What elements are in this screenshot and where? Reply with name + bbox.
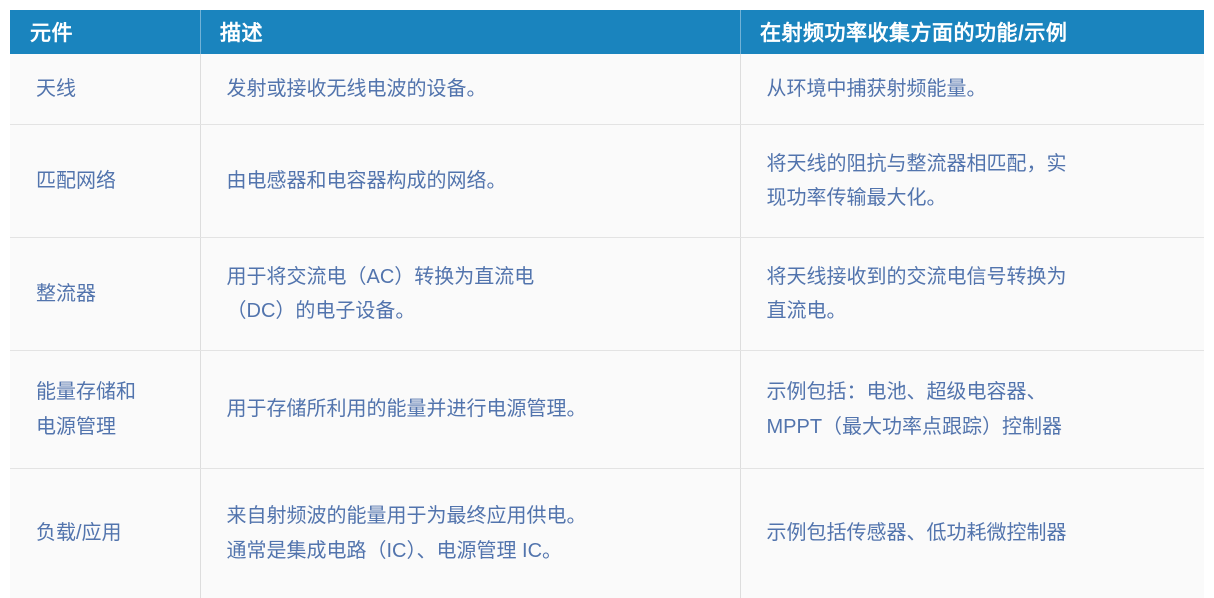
cell-text-line: 通常是集成电路（IC）、电源管理 IC。 xyxy=(227,534,726,568)
cell-text-line: 将天线接收到的交流电信号转换为 xyxy=(767,260,1191,294)
cell-text-line: 整流器 xyxy=(36,277,190,311)
cell-text-line: 由电感器和电容器构成的网络。 xyxy=(227,164,726,198)
table-header: 元件 描述 在射频功率收集方面的功能/示例 xyxy=(10,10,1204,54)
cell-text-line: 将天线的阻抗与整流器相匹配，实 xyxy=(767,147,1191,181)
cell-component: 能量存储和电源管理 xyxy=(10,351,200,469)
cell-text-line: 能量存储和 xyxy=(36,375,190,409)
cell-text-line: （DC）的电子设备。 xyxy=(227,294,726,328)
table-row: 匹配网络由电感器和电容器构成的网络。将天线的阻抗与整流器相匹配，实现功率传输最大… xyxy=(10,125,1204,238)
table-row: 能量存储和电源管理用于存储所利用的能量并进行电源管理。示例包括：电池、超级电容器… xyxy=(10,351,1204,469)
table-row: 整流器用于将交流电（AC）转换为直流电（DC）的电子设备。将天线接收到的交流电信… xyxy=(10,238,1204,351)
cell-text-line: 直流电。 xyxy=(767,294,1191,328)
cell-text-line: 从环境中捕获射频能量。 xyxy=(767,72,1191,106)
cell-function: 示例包括：电池、超级电容器、MPPT（最大功率点跟踪）控制器 xyxy=(740,351,1204,469)
cell-function: 示例包括传感器、低功耗微控制器 xyxy=(740,469,1204,598)
cell-component: 天线 xyxy=(10,54,200,125)
cell-component: 负载/应用 xyxy=(10,469,200,598)
cell-text-line: 现功率传输最大化。 xyxy=(767,181,1191,215)
cell-component: 整流器 xyxy=(10,238,200,351)
cell-text-line: 示例包括：电池、超级电容器、 xyxy=(767,375,1191,409)
cell-component: 匹配网络 xyxy=(10,125,200,238)
cell-description: 发射或接收无线电波的设备。 xyxy=(200,54,740,125)
cell-text-line: 来自射频波的能量用于为最终应用供电。 xyxy=(227,499,726,533)
table-body: 天线发射或接收无线电波的设备。从环境中捕获射频能量。匹配网络由电感器和电容器构成… xyxy=(10,54,1204,598)
cell-description: 来自射频波的能量用于为最终应用供电。通常是集成电路（IC）、电源管理 IC。 xyxy=(200,469,740,598)
table-header-row: 元件 描述 在射频功率收集方面的功能/示例 xyxy=(10,10,1204,54)
cell-text-line: 匹配网络 xyxy=(36,164,190,198)
cell-description: 用于存储所利用的能量并进行电源管理。 xyxy=(200,351,740,469)
table-row: 天线发射或接收无线电波的设备。从环境中捕获射频能量。 xyxy=(10,54,1204,125)
cell-text-line: 发射或接收无线电波的设备。 xyxy=(227,72,726,106)
cell-text-line: 用于将交流电（AC）转换为直流电 xyxy=(227,260,726,294)
cell-text-line: 示例包括传感器、低功耗微控制器 xyxy=(767,516,1191,550)
cell-text-line: 用于存储所利用的能量并进行电源管理。 xyxy=(227,392,726,426)
column-header-component: 元件 xyxy=(10,10,200,54)
cell-text-line: 电源管理 xyxy=(36,410,190,444)
table-row: 负载/应用来自射频波的能量用于为最终应用供电。通常是集成电路（IC）、电源管理 … xyxy=(10,469,1204,598)
rf-components-table: 元件 描述 在射频功率收集方面的功能/示例 天线发射或接收无线电波的设备。从环境… xyxy=(10,10,1204,598)
column-header-description: 描述 xyxy=(200,10,740,54)
rf-components-table-container: 元件 描述 在射频功率收集方面的功能/示例 天线发射或接收无线电波的设备。从环境… xyxy=(0,0,1214,494)
cell-function: 将天线的阻抗与整流器相匹配，实现功率传输最大化。 xyxy=(740,125,1204,238)
cell-text-line: MPPT（最大功率点跟踪）控制器 xyxy=(767,410,1191,444)
cell-description: 由电感器和电容器构成的网络。 xyxy=(200,125,740,238)
cell-description: 用于将交流电（AC）转换为直流电（DC）的电子设备。 xyxy=(200,238,740,351)
cell-function: 将天线接收到的交流电信号转换为直流电。 xyxy=(740,238,1204,351)
cell-text-line: 负载/应用 xyxy=(36,516,190,550)
cell-function: 从环境中捕获射频能量。 xyxy=(740,54,1204,125)
column-header-function: 在射频功率收集方面的功能/示例 xyxy=(740,10,1204,54)
cell-text-line: 天线 xyxy=(36,72,190,106)
